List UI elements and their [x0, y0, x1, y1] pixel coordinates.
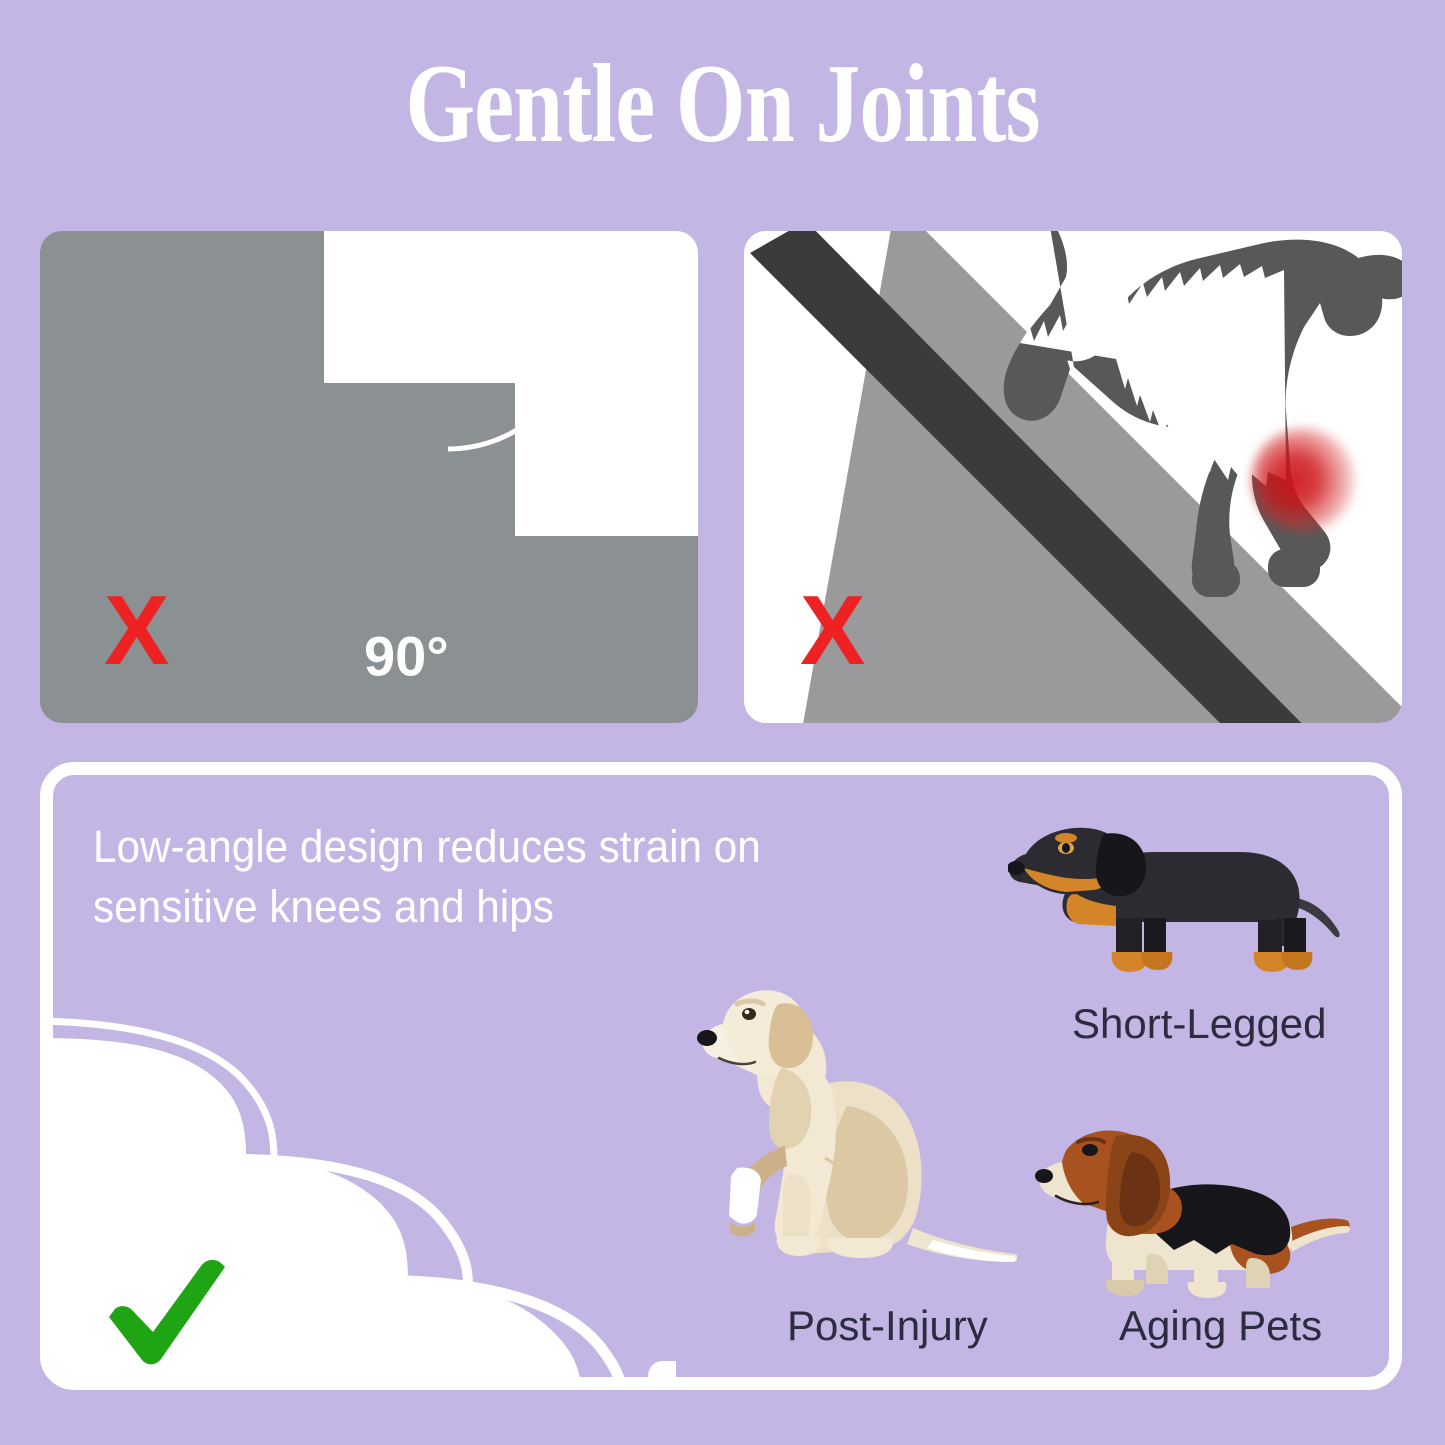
- cross-mark-icon: X: [800, 581, 865, 679]
- pain-point-glow-icon: [1251, 428, 1355, 532]
- basset-hound-illustration: [1034, 1112, 1352, 1298]
- panel-steep-ramp: X: [744, 231, 1402, 723]
- dachshund-illustration: [1008, 806, 1348, 988]
- panel-steep-steps: 90° X: [40, 231, 698, 723]
- page-title: Gentle On Joints: [145, 46, 1301, 164]
- check-mark-icon: [101, 1255, 231, 1365]
- pet-label-post-injury: Post-Injury: [787, 1302, 988, 1350]
- cross-mark-icon: X: [104, 581, 169, 679]
- pet-label-short-legged: Short-Legged: [1072, 1000, 1327, 1048]
- infographic-stage: Gentle On Joints 90° X: [0, 0, 1445, 1445]
- golden-retriever-illustration: [697, 978, 1017, 1278]
- pet-label-aging-pets: Aging Pets: [1119, 1302, 1322, 1350]
- angle-label: 90°: [364, 624, 449, 689]
- right-angle-arc-icon: [444, 311, 586, 453]
- solution-headline: Low-angle design reduces strain on sensi…: [93, 817, 836, 937]
